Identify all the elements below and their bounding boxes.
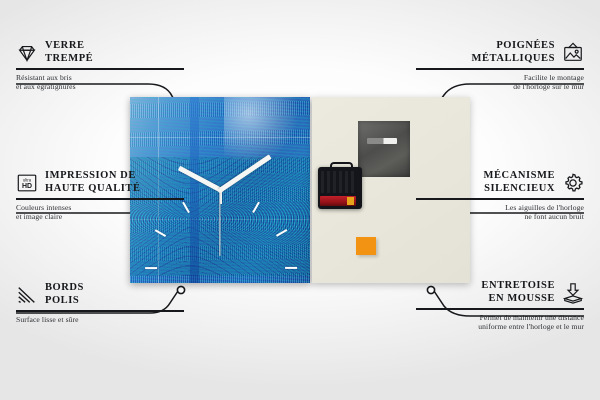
callout-mecanisme-desc: Les aiguilles de l'horloge ne font aucun…: [416, 203, 584, 222]
silent-quartz-mechanism: [318, 167, 362, 209]
callout-mecanisme-head: MÉCANISME SILENCIEUX: [416, 170, 584, 195]
gear-icon: [562, 172, 584, 194]
polished-edges-icon: [16, 284, 38, 306]
metal-hanger-plate: [358, 121, 410, 177]
callout-impression-desc: Couleurs intenses et image claire: [16, 203, 184, 222]
ultra-hd-icon: ultra HD: [16, 172, 38, 194]
callout-verre-title: VERRE TREMPÉ: [45, 40, 93, 65]
callout-poignees-desc: Facilite le montage de l'horloge sur le …: [416, 73, 584, 92]
callout-entretoise-head: ENTRETOISE EN MOUSSE: [416, 280, 584, 305]
callout-poignees-head: POIGNÉES MÉTALLIQUES: [416, 40, 584, 65]
svg-text:HD: HD: [22, 183, 32, 190]
infographic-stage: VERRE TREMPÉ Résistant aux bris et aux é…: [0, 0, 600, 400]
callout-impression-head: ultra HD IMPRESSION DE HAUTE QUALITÉ: [16, 170, 184, 195]
callout-bords-rule: [16, 310, 184, 311]
picture-frame-hanger-icon: [562, 42, 584, 64]
battery: [320, 196, 356, 206]
foam-spacer: [356, 237, 376, 255]
callout-impression-title: IMPRESSION DE HAUTE QUALITÉ: [45, 170, 141, 195]
callout-entretoise-desc: Permet de maintenir une distance uniform…: [416, 313, 584, 332]
diamond-icon: [16, 42, 38, 64]
callout-poignees-metalliques: POIGNÉES MÉTALLIQUES Facilite le montage…: [416, 40, 584, 92]
callout-mecanisme-title: MÉCANISME SILENCIEUX: [484, 170, 555, 195]
clock-center-cap: [218, 188, 223, 193]
callout-poignees-title: POIGNÉES MÉTALLIQUES: [472, 40, 555, 65]
callout-verre-head: VERRE TREMPÉ: [16, 40, 184, 65]
mechanism-body: [321, 171, 357, 193]
foam-spacer-arrow-icon: [562, 282, 584, 304]
callout-impression-haute-qualite: ultra HD IMPRESSION DE HAUTE QUALITÉ Cou…: [16, 170, 184, 222]
callout-bords-head: BORDS POLIS: [16, 282, 184, 307]
callout-verre-trempe: VERRE TREMPÉ Résistant aux bris et aux é…: [16, 40, 184, 92]
callout-mecanisme-silencieux: MÉCANISME SILENCIEUX Les aiguilles de l'…: [416, 170, 584, 222]
svg-text:ultra: ultra: [23, 177, 32, 182]
callout-bords-title: BORDS POLIS: [45, 282, 84, 307]
callout-bords-polis: BORDS POLIS Surface lisse et sûre: [16, 282, 184, 324]
callout-poignees-rule: [416, 68, 584, 69]
callout-verre-rule: [16, 68, 184, 69]
callout-entretoise-en-mousse: ENTRETOISE EN MOUSSE Permet de maintenir…: [416, 280, 584, 332]
callout-bords-desc: Surface lisse et sûre: [16, 315, 184, 325]
callout-entretoise-title: ENTRETOISE EN MOUSSE: [481, 280, 555, 305]
callout-verre-desc: Résistant aux bris et aux égratignures: [16, 73, 184, 92]
callout-impression-rule: [16, 198, 184, 199]
callout-entretoise-rule: [416, 308, 584, 309]
callout-mecanisme-rule: [416, 198, 584, 199]
